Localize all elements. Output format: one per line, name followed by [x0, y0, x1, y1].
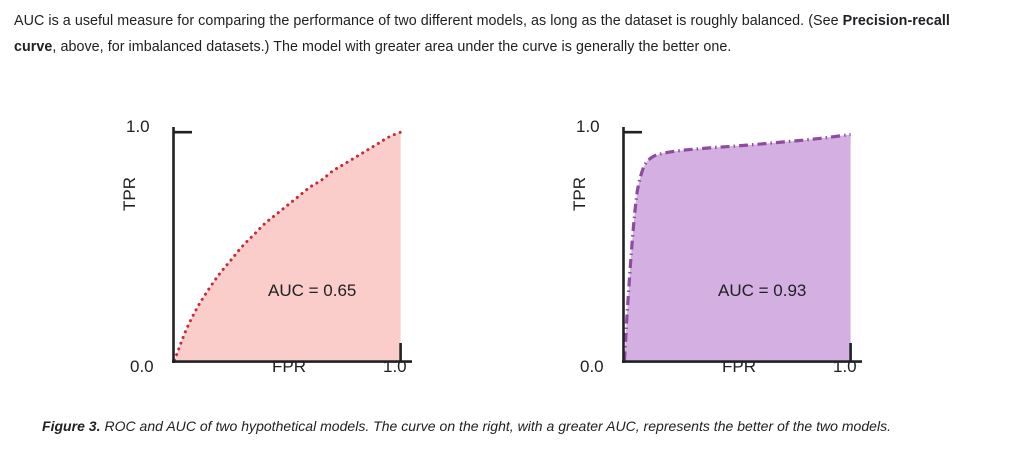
y-tick-label-1-left: 1.0: [126, 117, 150, 137]
x-tick-label-1-right: 1.0: [833, 357, 857, 377]
y-tick-label-1-right: 1.0: [576, 117, 600, 137]
y-axis-title-right: TPR: [570, 177, 590, 211]
y-axis-title-left: TPR: [120, 177, 140, 211]
x-tick-label-0-left: 0.0: [130, 357, 154, 377]
intro-text-part1: AUC is a useful measure for comparing th…: [14, 13, 843, 29]
x-axis-title-right: FPR: [722, 357, 756, 377]
x-tick-label-1-left: 1.0: [383, 357, 407, 377]
figure-caption-text: ROC and AUC of two hypothetical models. …: [101, 418, 892, 434]
chart-roc-auc-093: 1.0 0.0 1.0 FPR TPR AUC = 0.93: [550, 95, 990, 395]
x-tick-label-0-right: 0.0: [580, 357, 604, 377]
auc-area-fill-right: [625, 134, 851, 360]
intro-paragraph: AUC is a useful measure for comparing th…: [14, 8, 986, 60]
auc-annotation-left: AUC = 0.65: [268, 281, 356, 301]
figure-3: 1.0 0.0 1.0 FPR TPR AUC = 0.65 1.0 0.0 1…: [0, 95, 1010, 395]
figure-caption-number: Figure 3.: [42, 418, 101, 434]
chart-roc-auc-065: 1.0 0.0 1.0 FPR TPR AUC = 0.65: [100, 95, 540, 395]
figure-caption: Figure 3. ROC and AUC of two hypothetica…: [42, 415, 992, 437]
roc-left-plot: [100, 95, 540, 395]
auc-area-fill-left: [175, 132, 401, 360]
intro-text-part2: , above, for imbalanced datasets.) The m…: [52, 39, 731, 55]
x-axis-title-left: FPR: [272, 357, 306, 377]
roc-right-plot: [550, 95, 990, 395]
auc-annotation-right: AUC = 0.93: [718, 281, 806, 301]
